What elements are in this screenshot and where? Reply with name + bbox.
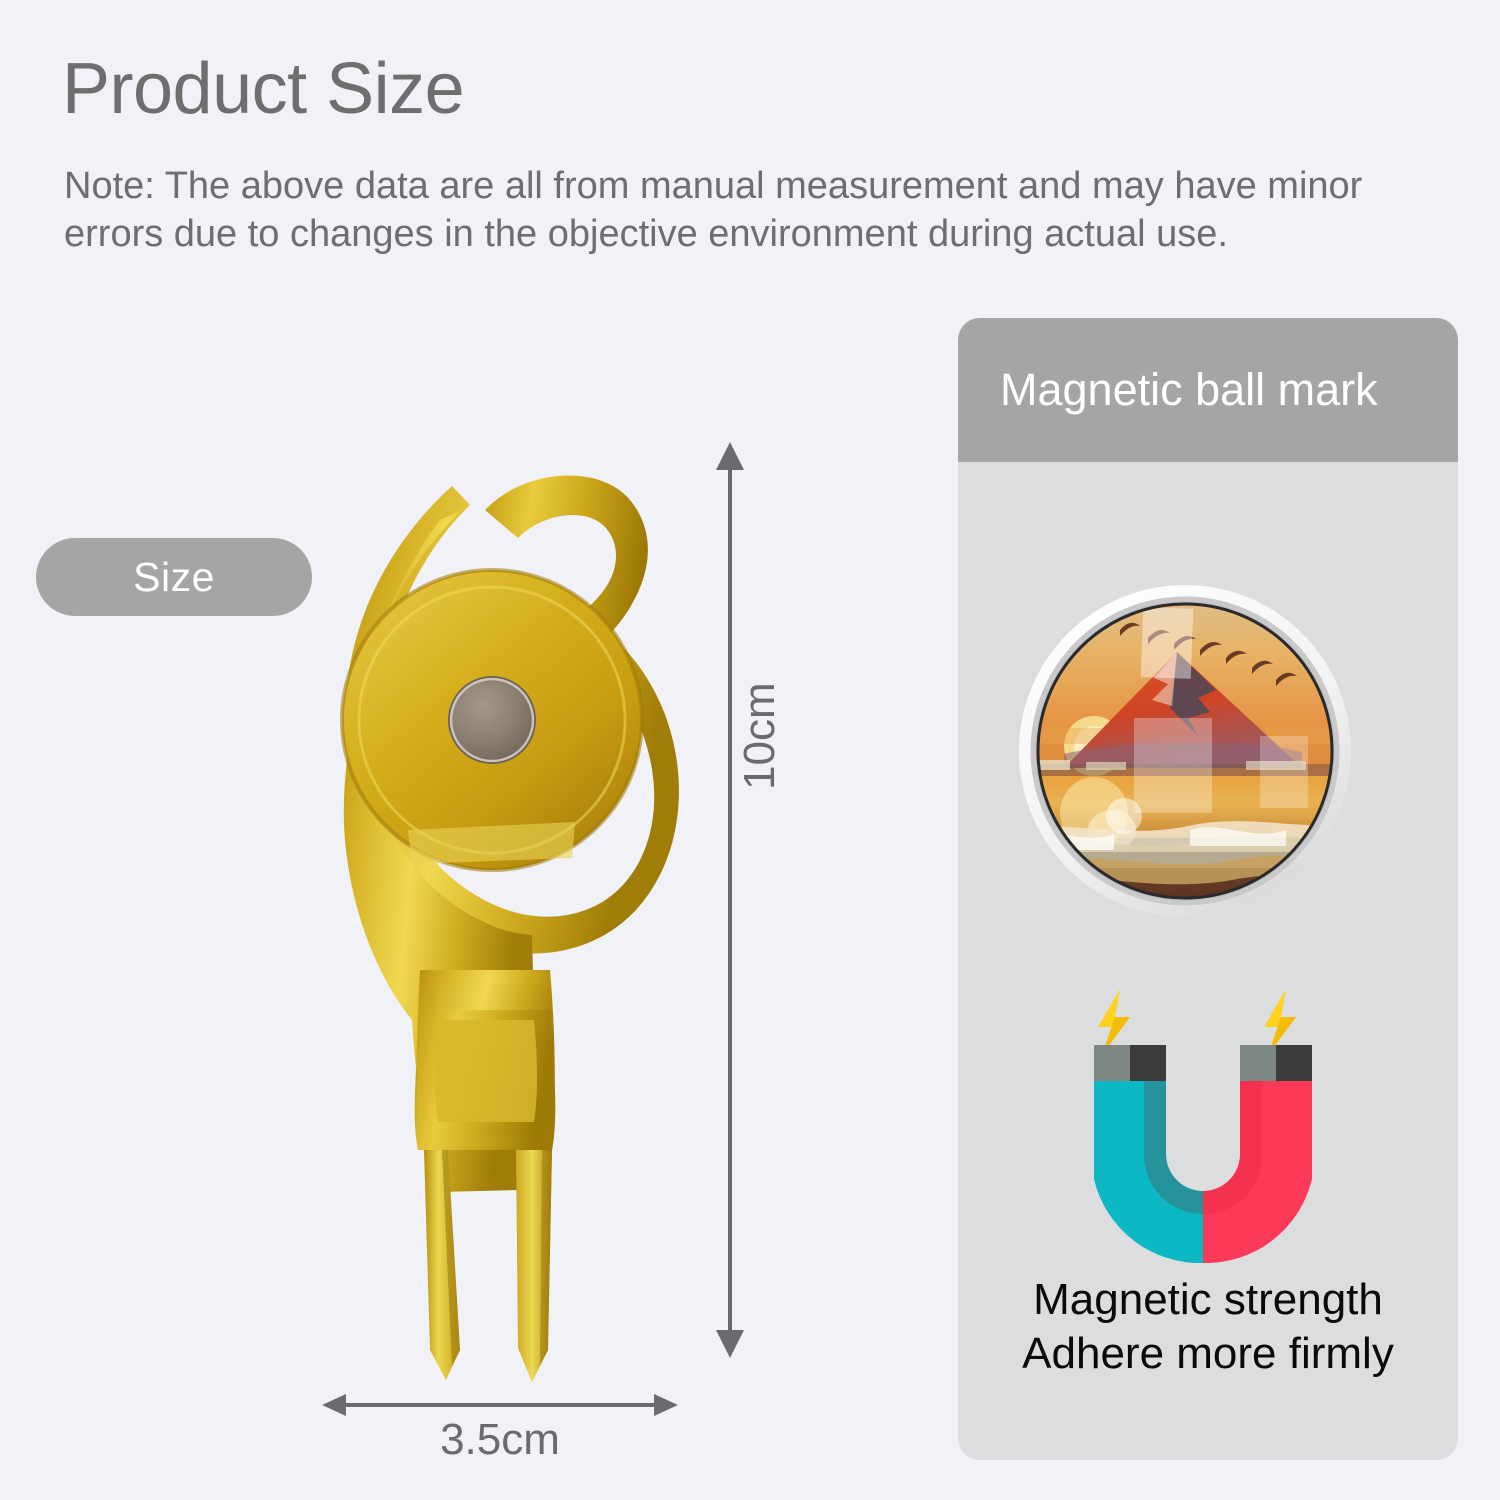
horseshoe-magnet-icon (1078, 983, 1328, 1263)
magnetic-panel-header: Magnetic ball mark (958, 318, 1458, 462)
magnet-caption-line2: Adhere more firmly (958, 1327, 1458, 1381)
size-badge-label: Size (133, 554, 215, 601)
height-dimension-arrow (700, 440, 760, 1360)
page-title: Product Size (62, 52, 464, 128)
magnet-caption: Magnetic strength Adhere more firmly (958, 1273, 1458, 1380)
width-dimension-label: 3.5cm (320, 1415, 680, 1465)
height-dimension-label: 10cm (735, 682, 785, 790)
magnetic-ball-mark-panel: Magnetic ball mark (958, 318, 1458, 1460)
magnetic-panel-title: Magnetic ball mark (1000, 364, 1378, 416)
magnet-caption-line1: Magnetic strength (958, 1273, 1458, 1327)
measurement-note: Note: The above data are all from manual… (64, 163, 1464, 259)
golf-divot-tool-image (320, 450, 690, 1390)
ball-marker-image (1002, 568, 1368, 934)
size-badge: Size (36, 538, 312, 616)
